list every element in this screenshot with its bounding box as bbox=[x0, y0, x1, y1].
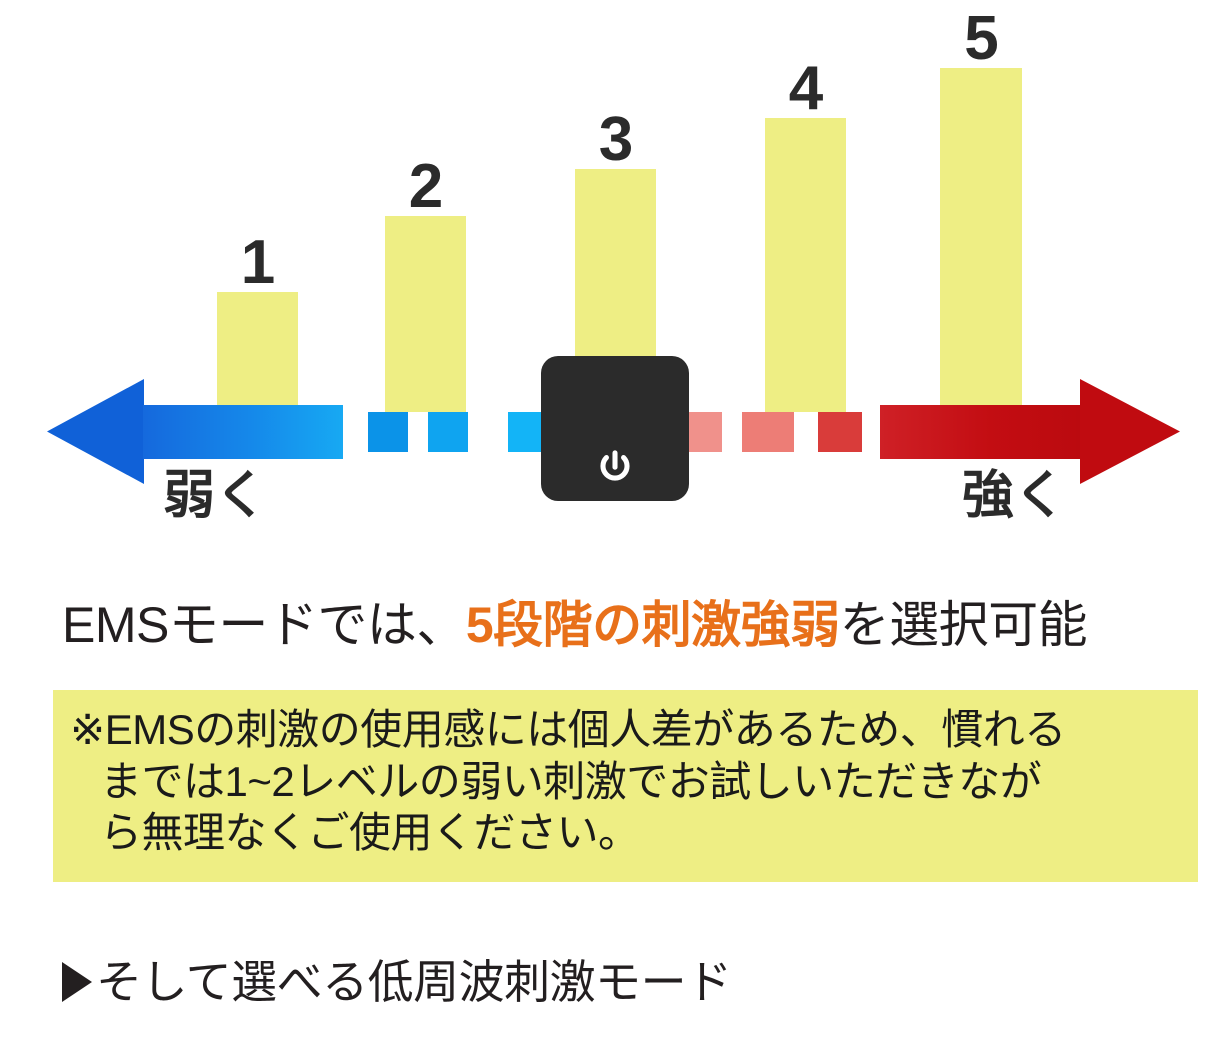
level-label-3: 3 bbox=[575, 109, 656, 171]
weak-segment-3[interactable] bbox=[508, 412, 544, 452]
power-icon bbox=[596, 449, 634, 487]
play-triangle-icon bbox=[62, 962, 92, 1002]
strong-label: 強く bbox=[962, 470, 1066, 522]
weak-segment-1[interactable] bbox=[368, 412, 408, 452]
headline-prefix: EMSモードでは、 bbox=[62, 597, 466, 653]
note-line-1: ※EMSの刺激の使用感には個人差があるため、慣れる bbox=[70, 706, 1066, 753]
headline-highlight: 5段階の刺激強弱 bbox=[466, 597, 840, 653]
headline-suffix: を選択可能 bbox=[840, 597, 1088, 653]
note-line-2: までは1~2レベルの弱い刺激でお試しいただきなが bbox=[70, 756, 1188, 808]
infographic-canvas: 1 2 3 4 5 弱く 強く EMSモードでは、5段階の刺激強弱を選択可能 bbox=[0, 0, 1230, 1037]
level-label-4: 4 bbox=[765, 58, 846, 120]
decrease-arrow-icon[interactable] bbox=[47, 379, 144, 484]
note-box: ※EMSの刺激の使用感には個人差があるため、慣れる までは1~2レベルの弱い刺激… bbox=[53, 690, 1198, 882]
decrease-arrow-bar[interactable] bbox=[143, 405, 343, 459]
strong-segment-1[interactable] bbox=[688, 412, 722, 452]
level-bar-2 bbox=[385, 216, 466, 412]
level-bar-5 bbox=[940, 68, 1022, 412]
footer-line: そして選べる低周波刺激モード bbox=[62, 946, 732, 1012]
footer-text: そして選べる低周波刺激モード bbox=[96, 956, 732, 1008]
note-text: ※EMSの刺激の使用感には個人差があるため、慣れる までは1~2レベルの弱い刺激… bbox=[70, 704, 1188, 859]
note-line-3: ら無理なくご使用ください。 bbox=[70, 807, 1188, 859]
level-bar-1 bbox=[217, 292, 298, 412]
weak-label: 弱く bbox=[163, 470, 267, 522]
power-button[interactable] bbox=[541, 356, 689, 501]
level-label-1: 1 bbox=[217, 232, 298, 294]
increase-arrow-bar[interactable] bbox=[880, 405, 1080, 459]
strong-segment-3[interactable] bbox=[818, 412, 862, 452]
level-label-5: 5 bbox=[940, 8, 1022, 70]
headline: EMSモードでは、5段階の刺激強弱を選択可能 bbox=[62, 585, 1087, 657]
increase-arrow-icon[interactable] bbox=[1080, 379, 1180, 484]
weak-segment-2[interactable] bbox=[428, 412, 468, 452]
level-label-2: 2 bbox=[385, 156, 466, 218]
level-bar-4 bbox=[765, 118, 846, 412]
strong-segment-2[interactable] bbox=[742, 412, 794, 452]
